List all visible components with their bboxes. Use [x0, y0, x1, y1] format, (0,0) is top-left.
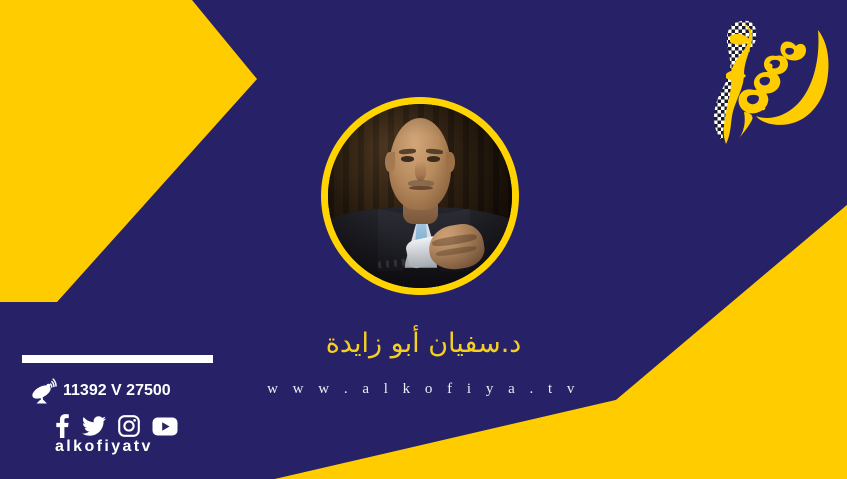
youtube-icon[interactable] [152, 417, 178, 436]
photo-vignette [328, 104, 512, 288]
channel-logo [700, 12, 832, 152]
frequency-text: 11392 V 27500 [63, 382, 171, 400]
facebook-icon[interactable] [55, 414, 70, 438]
portrait-frame [321, 97, 519, 295]
satellite-dish-icon [30, 377, 60, 405]
divider-bar [22, 355, 213, 363]
instagram-icon[interactable] [118, 415, 140, 437]
yellow-chevron-top-left [0, 0, 257, 302]
social-handle: alkofiyatv [55, 438, 153, 456]
social-icons-row [55, 414, 178, 438]
broadcast-lower-third-graphic: د.سفيان أبو زايدة w w w . a l k o f i y … [0, 0, 847, 479]
satellite-frequency-row: 11392 V 27500 [30, 377, 171, 405]
portrait-photo [328, 104, 512, 288]
twitter-icon[interactable] [82, 416, 106, 437]
